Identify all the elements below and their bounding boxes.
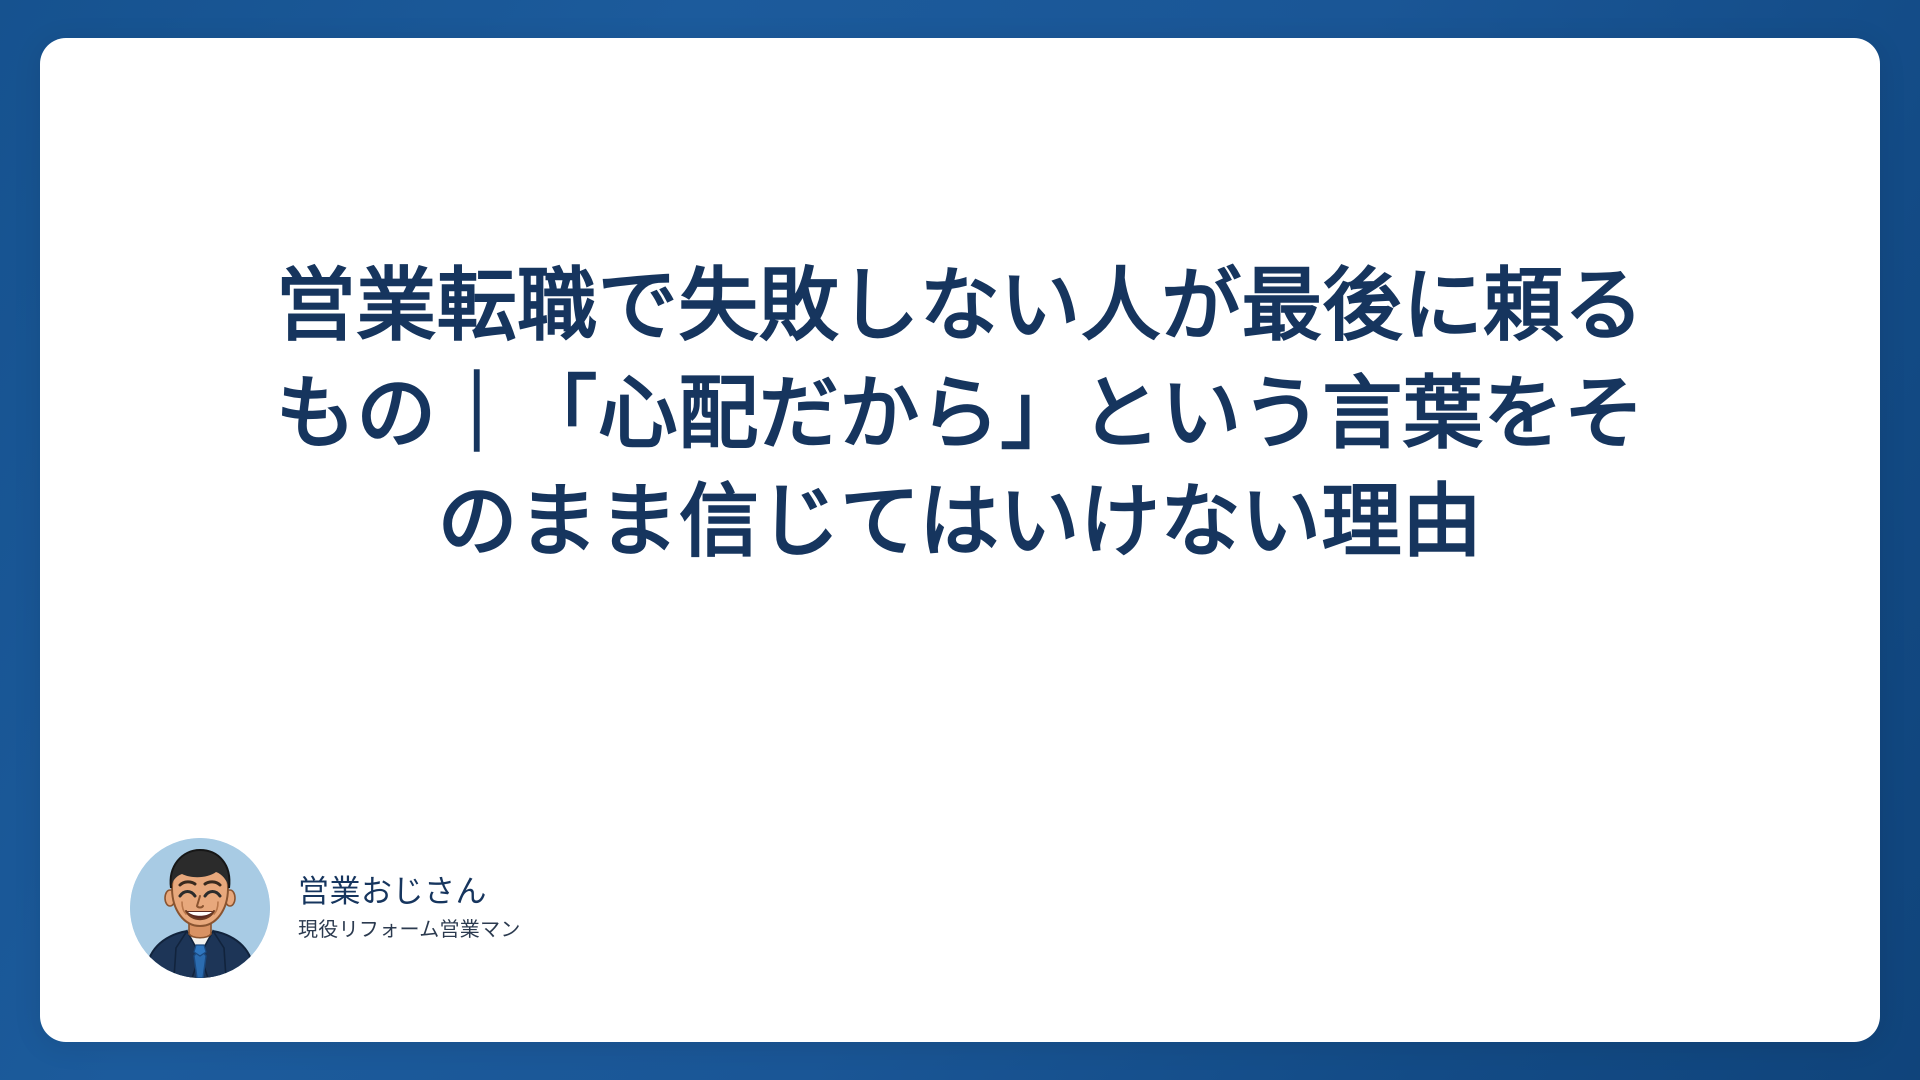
author-name: 営業おじさん: [298, 874, 521, 910]
page-title: 営業転職で失敗しない人が最後に頼る もの｜「心配だから」という言葉をそ のまま信…: [160, 252, 1760, 576]
author-text: 営業おじさん 現役リフォーム営業マン: [298, 874, 521, 942]
content-card: 営業転職で失敗しない人が最後に頼る もの｜「心配だから」という言葉をそ のまま信…: [40, 38, 1880, 1042]
title-line-2: もの｜「心配だから」という言葉をそ: [160, 360, 1760, 468]
author-role: 現役リフォーム営業マン: [298, 919, 521, 942]
title-line-3: のまま信じてはいけない理由: [160, 468, 1760, 576]
slide-root: 営業転職で失敗しない人が最後に頼る もの｜「心配だから」という言葉をそ のまま信…: [0, 0, 1920, 1080]
author-byline: 営業おじさん 現役リフォーム営業マン: [130, 838, 521, 978]
avatar-illustration: [130, 838, 270, 978]
avatar: [130, 838, 270, 978]
title-line-1: 営業転職で失敗しない人が最後に頼る: [160, 252, 1760, 360]
